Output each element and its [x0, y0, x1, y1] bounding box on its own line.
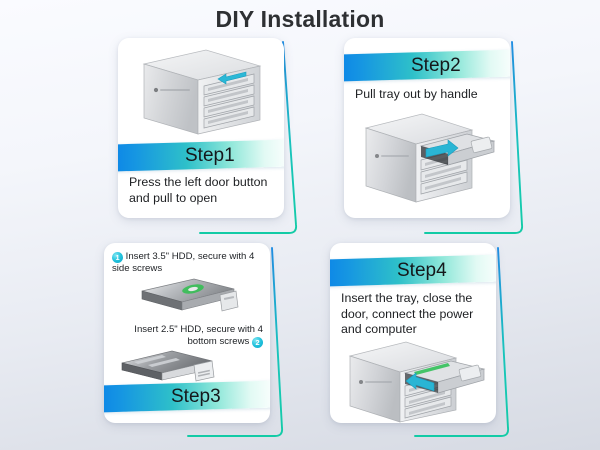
- nas-enclosure-tray-inserting-image: [344, 338, 490, 423]
- substep-2-text: Insert 2.5" HDD, secure with 4 bottom sc…: [134, 324, 263, 347]
- substep-number-2-badge: 2: [252, 337, 263, 348]
- step2-badge: Step2: [344, 49, 510, 81]
- diy-installation-infographic: DIY Installation: [0, 0, 600, 450]
- step4-badge: Step4: [330, 254, 496, 286]
- step1-description: Press the left door button and pull to o…: [129, 175, 275, 206]
- step3-badge: Step3: [104, 380, 270, 412]
- hdd-2-5-inch-in-tray-image: [118, 349, 222, 387]
- step-card-step3[interactable]: 1 Insert 3.5" HDD, secure with 4 side sc…: [104, 243, 270, 423]
- nas-enclosure-front-door-closed-image: [134, 42, 270, 142]
- nas-enclosure-tray-pulled-out-image: [360, 108, 500, 216]
- step-card-step4[interactable]: Step4 Insert the tray, close the door, c…: [330, 243, 496, 423]
- step1-badge: Step1: [118, 139, 284, 171]
- step-card-step2[interactable]: Step2 Pull tray out by handle: [344, 38, 510, 218]
- substep-number-1-badge: 1: [112, 252, 123, 263]
- step3-substep-2: Insert 2.5" HDD, secure with 4 bottom sc…: [112, 324, 263, 348]
- page-title: DIY Installation: [0, 6, 600, 33]
- step2-description: Pull tray out by handle: [355, 87, 501, 103]
- hdd-3-5-inch-in-tray-image: [138, 277, 242, 319]
- flow-bracket-decorations: [0, 0, 600, 450]
- substep-1-text: Insert 3.5" HDD, secure with 4 side scre…: [112, 251, 254, 274]
- step-card-step1[interactable]: Step1 Press the left door button and pul…: [118, 38, 284, 218]
- step4-description: Insert the tray, close the door, connect…: [341, 291, 487, 338]
- step3-substep-1: 1 Insert 3.5" HDD, secure with 4 side sc…: [112, 251, 263, 275]
